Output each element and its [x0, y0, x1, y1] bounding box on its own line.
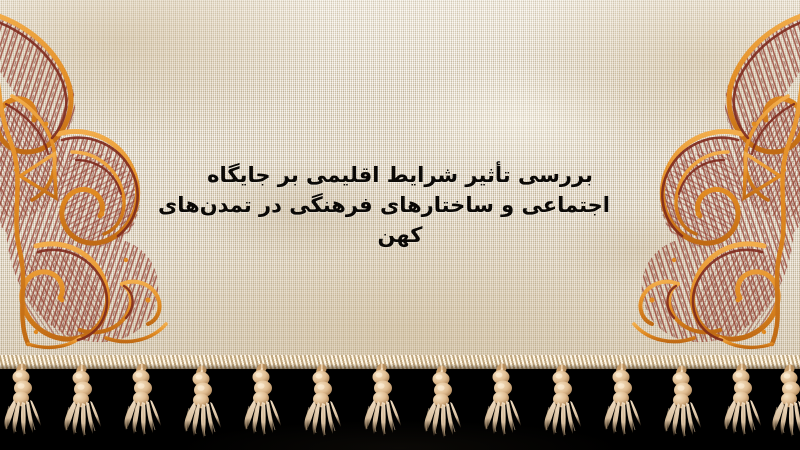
- textile-panel: بررسی تأثیر شرایط اقلیمی بر جایگاه اجتما…: [0, 0, 800, 369]
- title-line-2: اجتماعی و ساختارهای فرهنگی در تمدن‌های: [190, 190, 610, 220]
- title-line-3: کهن: [190, 220, 610, 250]
- title-line-1: بررسی تأثیر شرایط اقلیمی بر جایگاه: [190, 160, 610, 190]
- knotted-tassel-fringe: [0, 358, 800, 450]
- title-card-canvas: بررسی تأثیر شرایط اقلیمی بر جایگاه اجتما…: [0, 0, 800, 450]
- tassel-row: [4, 368, 800, 438]
- page-title: بررسی تأثیر شرایط اقلیمی بر جایگاه اجتما…: [0, 160, 800, 250]
